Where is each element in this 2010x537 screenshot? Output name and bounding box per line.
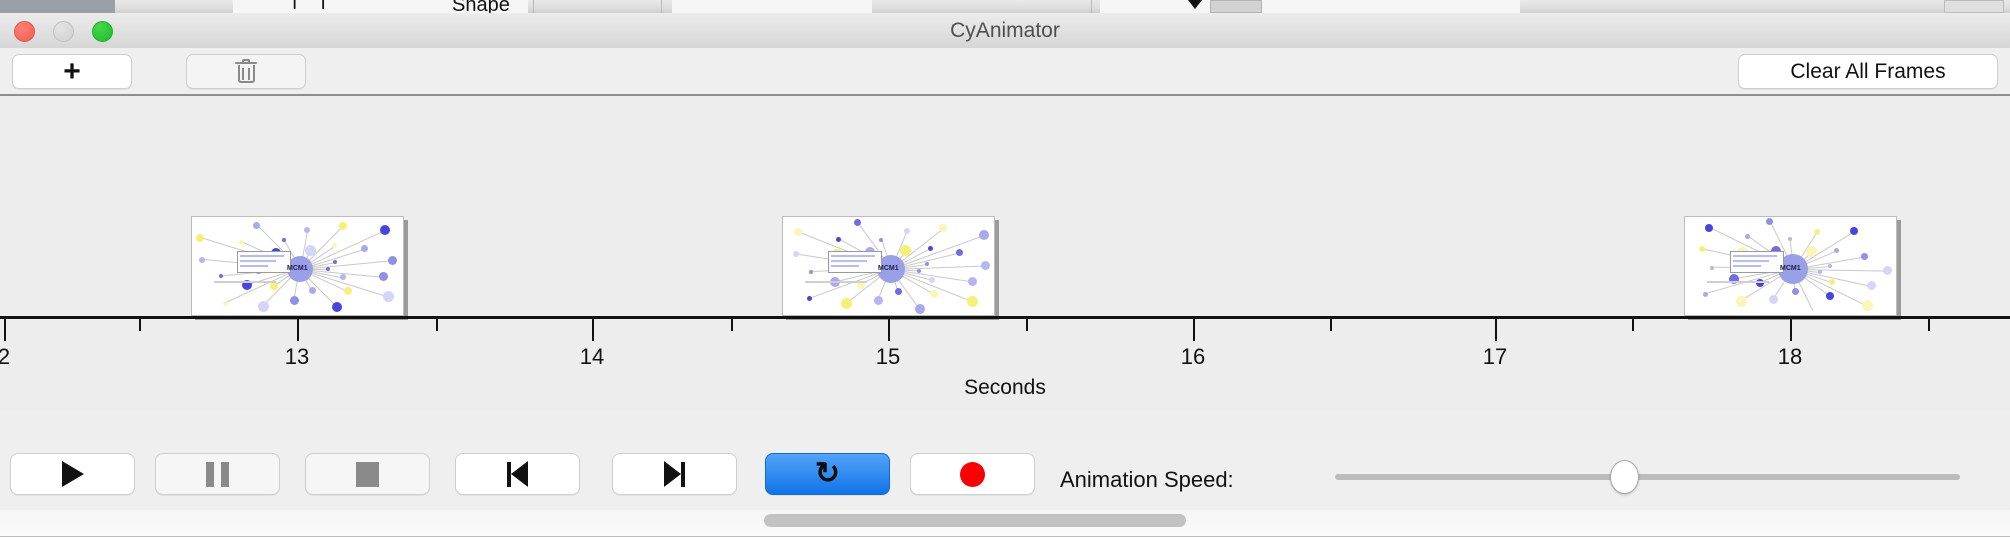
- graph-caption-line: [214, 281, 276, 283]
- graph-node: [1829, 279, 1835, 285]
- graph-node: [1850, 227, 1858, 235]
- clear-all-frames-label: Clear All Frames: [1790, 60, 1945, 84]
- background-white-segment-2: [672, 0, 872, 13]
- slider-track: [1335, 474, 1960, 480]
- graph-node: [793, 251, 799, 257]
- skip-to-end-icon: [664, 461, 685, 487]
- timeline-scrollbar[interactable]: [0, 506, 2010, 537]
- graph-node: [1883, 266, 1892, 275]
- graph-node: [332, 302, 342, 312]
- background-divider-3: [1090, 0, 1092, 13]
- play-icon: [62, 461, 84, 487]
- graph-node: [928, 246, 933, 251]
- graph-node: [388, 256, 397, 265]
- timeline-axis: 2131415161718 Seconds: [0, 316, 2010, 412]
- record-button[interactable]: [910, 453, 1035, 495]
- graph-node: [915, 304, 925, 314]
- graph-node: [1705, 224, 1713, 232]
- graph-node: [929, 277, 935, 283]
- graph-node: [1861, 253, 1868, 260]
- background-dark-segment: [0, 0, 115, 13]
- frame-thumbnail-image: MCM1: [1684, 216, 1897, 316]
- animation-speed-label: Animation Speed:: [1060, 467, 1234, 493]
- slider-thumb[interactable]: [1610, 460, 1639, 494]
- graph-node: [1699, 246, 1705, 252]
- graph-node: [956, 249, 963, 256]
- graph-tooltip-line: [240, 260, 276, 262]
- axis-tick-label: 15: [876, 344, 900, 370]
- pause-button[interactable]: [155, 453, 280, 495]
- axis-tick: [1495, 319, 1497, 341]
- graph-node: [967, 296, 978, 307]
- graph-node: [794, 228, 802, 236]
- graph-node: [968, 277, 977, 286]
- axis-tick: [1026, 319, 1028, 331]
- graph-node: [841, 298, 852, 309]
- graph-node: [809, 270, 813, 274]
- play-button[interactable]: [10, 453, 135, 495]
- graph-node: [239, 240, 244, 245]
- axis-tick: [1928, 319, 1930, 331]
- graph-node: [219, 274, 223, 278]
- clear-all-frames-button[interactable]: Clear All Frames: [1738, 54, 1998, 89]
- graph-node: [1703, 292, 1708, 297]
- graph-node: [332, 243, 337, 248]
- stop-button[interactable]: [305, 453, 430, 495]
- delete-frame-button[interactable]: [186, 54, 306, 89]
- axis-tick-label: 18: [1778, 344, 1802, 370]
- axis-tick: [1193, 319, 1195, 341]
- timeline-panel[interactable]: MCM1MCM1MCM1 2131415161718 Seconds: [0, 94, 2010, 410]
- graph-node: [874, 296, 883, 305]
- graph-node: [895, 288, 902, 295]
- graph-tooltip-line: [831, 255, 875, 257]
- graph-node: [344, 287, 352, 295]
- graph-node: [304, 227, 310, 233]
- graph-node: [1792, 288, 1799, 295]
- graph-node: [196, 234, 204, 242]
- trash-icon: [235, 59, 257, 85]
- background-divider-2: [660, 0, 662, 13]
- graph-node: [290, 296, 299, 305]
- background-white-segment-3: [1100, 0, 1520, 13]
- axis-tick-label: 14: [580, 344, 604, 370]
- graph-tooltip-line: [240, 265, 268, 267]
- graph-node: [1818, 270, 1822, 274]
- axis-tick-label: 16: [1181, 344, 1205, 370]
- frame-thumbnail[interactable]: MCM1: [1684, 216, 1897, 316]
- axis-tick-label: 17: [1483, 344, 1507, 370]
- frame-thumbnail[interactable]: MCM1: [191, 216, 404, 316]
- stop-icon: [356, 462, 379, 487]
- graph-node: [1788, 237, 1792, 241]
- skip-to-start-button[interactable]: [455, 453, 580, 495]
- axis-tick: [1790, 319, 1792, 341]
- graph-node: [1867, 281, 1876, 290]
- graph-tooltip-line: [831, 265, 859, 267]
- frame-thumbnail-track: MCM1MCM1MCM1: [0, 96, 2010, 316]
- loop-icon: ↻: [815, 459, 840, 489]
- axis-tick: [888, 319, 890, 341]
- transport-bar: ↻ Animation Speed:: [0, 441, 2010, 510]
- graph-node: [1828, 264, 1832, 268]
- graph-node: [979, 230, 989, 240]
- graph-node: [305, 245, 316, 256]
- graph-node: [380, 225, 390, 235]
- graph-node: [223, 301, 228, 306]
- graph-hub-label: MCM1: [878, 265, 899, 272]
- graph-node: [807, 296, 812, 301]
- graph-node: [340, 274, 346, 280]
- graph-node: [1814, 229, 1820, 235]
- graph-node: [339, 222, 347, 230]
- background-gray-box: [1210, 0, 1262, 13]
- animation-speed-slider[interactable]: [1335, 472, 1960, 480]
- background-arrow-icon: [1188, 0, 1202, 9]
- axis-tick: [592, 319, 594, 341]
- graph-node: [925, 262, 929, 266]
- graph-node: [253, 222, 260, 229]
- graph-node: [939, 224, 947, 232]
- frame-thumbnail[interactable]: MCM1: [782, 216, 995, 316]
- background-glyph-row: I I: [292, 0, 335, 13]
- background-right-box: [1944, 0, 2004, 13]
- graph-node: [1834, 248, 1839, 253]
- axis-tick: [1330, 319, 1332, 331]
- graph-node: [383, 291, 394, 302]
- axis-tick: [731, 319, 733, 331]
- graph-node: [1862, 300, 1873, 311]
- graph-node: [836, 237, 841, 242]
- graph-tooltip-line: [1733, 265, 1761, 267]
- graph-node: [930, 290, 938, 298]
- graph-caption-line: [1707, 281, 1769, 283]
- graph-tooltip-line: [1733, 255, 1777, 257]
- graph-node: [258, 301, 269, 312]
- title-bar: CyAnimator: [0, 13, 2010, 49]
- timeline-scrollbar-thumb[interactable]: [764, 514, 1186, 527]
- graph-node: [904, 228, 910, 234]
- cyanimator-window: I I Shape CyAnimator + Clear All Frames …: [0, 0, 2010, 510]
- plus-icon: +: [63, 57, 81, 87]
- graph-tooltip-line: [240, 255, 284, 257]
- graph-node: [879, 238, 883, 242]
- window-title: CyAnimator: [0, 13, 2010, 48]
- graph-node: [309, 287, 316, 294]
- graph-node: [361, 245, 368, 252]
- graph-node: [1766, 218, 1773, 225]
- axis-tick: [436, 319, 438, 331]
- graph-caption-line: [805, 281, 867, 283]
- background-divider-1: [532, 0, 534, 13]
- graph-tooltip-line: [831, 260, 867, 262]
- graph-hub-label: MCM1: [1780, 265, 1801, 272]
- axis-tick: [139, 319, 141, 331]
- graph-hub-label: MCM1: [287, 265, 308, 272]
- axis-tick: [4, 319, 6, 341]
- toolbar: + Clear All Frames: [0, 48, 2010, 94]
- axis-tick-label: 13: [285, 344, 309, 370]
- skip-to-start-icon: [507, 461, 528, 487]
- axis-tick: [297, 319, 299, 341]
- add-frame-button[interactable]: +: [12, 54, 132, 89]
- graph-node: [199, 257, 205, 263]
- graph-node: [326, 267, 330, 271]
- graph-node: [1736, 296, 1747, 307]
- graph-node: [1826, 292, 1834, 300]
- background-window-strip: I I Shape: [0, 0, 2010, 13]
- record-icon: [960, 462, 985, 487]
- graph-node: [917, 269, 921, 273]
- loop-button[interactable]: ↻: [765, 453, 890, 495]
- pause-icon: [206, 462, 229, 487]
- background-shape-label: Shape: [452, 0, 510, 13]
- axis-tick-label: 2: [0, 344, 10, 370]
- skip-to-end-button[interactable]: [612, 453, 737, 495]
- graph-node: [333, 260, 337, 264]
- graph-tooltip-line: [1733, 260, 1769, 262]
- axis-title: Seconds: [0, 376, 2010, 400]
- frame-thumbnail-image: MCM1: [191, 216, 404, 316]
- graph-node: [1769, 295, 1778, 304]
- axis-line: [0, 316, 2010, 319]
- frame-thumbnail-image: MCM1: [782, 216, 995, 316]
- graph-node: [981, 261, 990, 270]
- graph-node: [379, 272, 388, 281]
- axis-tick: [1632, 319, 1634, 331]
